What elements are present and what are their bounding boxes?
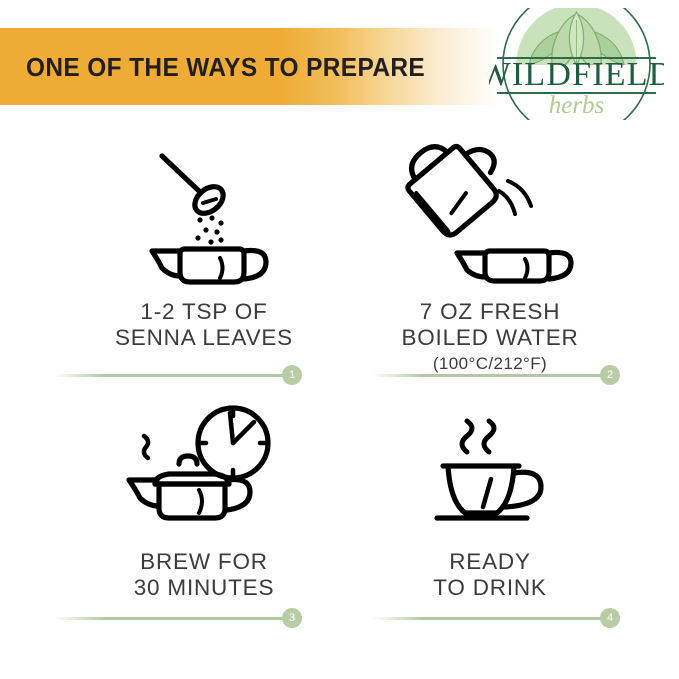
step-caption-1: 1-2 TSP OF SENNA LEAVES bbox=[54, 299, 354, 351]
step-caption-line-2: TO DRINK bbox=[433, 575, 547, 600]
step-divider-4: 4 bbox=[372, 608, 620, 628]
step-card-3: BREW FOR 30 MINUTES bbox=[54, 400, 354, 601]
step-card-4: READY TO DRINK bbox=[340, 415, 640, 601]
step-number-badge: 1 bbox=[282, 365, 302, 385]
step-divider-2: 2 bbox=[372, 365, 620, 385]
divider-line bbox=[372, 374, 604, 377]
step-number-badge: 2 bbox=[600, 365, 620, 385]
step-card-2: 7 OZ FRESH BOILED WATER (100°C/212°F) bbox=[340, 140, 640, 375]
logo-script-text: herbs bbox=[549, 92, 605, 119]
falling-leaves bbox=[195, 215, 223, 244]
step-caption-line-2: 30 MINUTES bbox=[134, 575, 275, 600]
step-card-1: 1-2 TSP OF SENNA LEAVES bbox=[54, 150, 354, 351]
step-caption-2: 7 OZ FRESH BOILED WATER (100°C/212°F) bbox=[340, 299, 640, 375]
kettle-pouring-into-teapot-icon bbox=[340, 140, 640, 285]
step-caption-3: BREW FOR 30 MINUTES bbox=[54, 549, 354, 601]
step-caption-line-1: 7 OZ FRESH bbox=[420, 299, 561, 324]
teapot-with-spoon-icon bbox=[54, 150, 354, 285]
divider-line bbox=[54, 374, 286, 377]
step-caption-line-1: BREW FOR bbox=[140, 549, 268, 574]
step-caption-4: READY TO DRINK bbox=[340, 549, 640, 601]
steaming-cup-icon bbox=[340, 415, 640, 535]
step-caption-line-2: BOILED WATER bbox=[401, 325, 578, 350]
logo-brand-text: WILDFIELD bbox=[489, 56, 664, 93]
step-caption-line-2: SENNA LEAVES bbox=[115, 325, 293, 350]
header-banner: ONE OF THE WAYS TO PREPARE WILDFIELD bbox=[0, 0, 679, 130]
teapot-with-clock-icon bbox=[54, 400, 354, 535]
step-caption-line-1: READY bbox=[449, 549, 531, 574]
divider-line bbox=[54, 617, 286, 620]
divider-line bbox=[372, 617, 604, 620]
page-title: ONE OF THE WAYS TO PREPARE bbox=[26, 51, 425, 83]
step-number-badge: 3 bbox=[282, 608, 302, 628]
step-divider-3: 3 bbox=[54, 608, 302, 628]
brand-logo: WILDFIELD herbs bbox=[489, 8, 664, 120]
step-caption-line-1: 1-2 TSP OF bbox=[140, 299, 267, 324]
step-number-badge: 4 bbox=[600, 608, 620, 628]
step-divider-1: 1 bbox=[54, 365, 302, 385]
